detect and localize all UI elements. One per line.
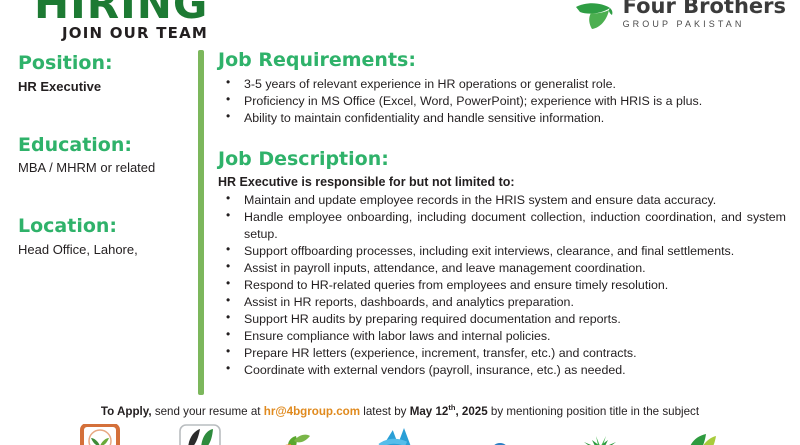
job-description-section: Job Description: HR Executive is respons… (218, 147, 786, 379)
list-item: Handle employee onboarding, including do… (218, 209, 786, 242)
job-description-list: Maintain and update employee records in … (218, 192, 786, 378)
company-logo: Four Brothers GROUP PAKISTAN (574, 0, 786, 32)
list-item: Assist in payroll inputs, attendance, an… (218, 260, 786, 277)
job-requirements-list: 3-5 years of relevant experience in HR o… (218, 76, 786, 127)
apply-prefix: To Apply, (101, 405, 152, 418)
brand-text-block: Four Brothers GROUP PAKISTAN (623, 0, 786, 29)
list-item: Maintain and update employee records in … (218, 192, 786, 209)
list-item: Ensure compliance with labor laws and in… (218, 328, 786, 345)
orange-framed-sprout-logo-icon (71, 424, 129, 445)
apply-text-before-email: send your resume at (152, 405, 264, 418)
blue-circle-logo-icon (471, 424, 529, 445)
hiring-title: HIRING (34, 0, 208, 25)
job-requirements-section: Job Requirements: 3-5 years of relevant … (218, 48, 786, 126)
lime-leaf-logo-icon (671, 424, 729, 445)
list-item: Respond to HR-related queries from emplo… (218, 277, 786, 294)
field-location: Location: Head Office, Lahore, (18, 215, 194, 259)
brand-subtitle: GROUP PAKISTAN (623, 20, 786, 29)
apply-text-before-date: latest by (360, 405, 410, 418)
apply-deadline-year: , 2025 (455, 405, 487, 418)
leaf-pair-boxed-logo-icon (171, 424, 229, 445)
partner-logo-strip (0, 424, 800, 445)
job-description-title: Job Description: (218, 147, 786, 172)
join-our-team-tagline: JOIN OUR TEAM (62, 24, 208, 42)
job-requirements-title: Job Requirements: (218, 48, 786, 73)
section-spacer (218, 127, 786, 147)
field-location-value: Head Office, Lahore, (18, 242, 194, 259)
two-leaves-icon (574, 0, 620, 32)
green-star-leaf-logo-icon (571, 424, 629, 445)
list-item: Coordinate with external vendors (payrol… (218, 362, 786, 379)
field-position-label: Position: (18, 52, 194, 76)
orange-sprout-logo-icon (271, 424, 329, 445)
apply-email-link[interactable]: hr@4bgroup.com (264, 405, 360, 418)
field-education-value: MBA / MHRM or related (18, 160, 194, 177)
field-location-label: Location: (18, 215, 194, 239)
field-position-value: HR Executive (18, 79, 194, 96)
job-detail-column: Job Requirements: 3-5 years of relevant … (218, 48, 786, 379)
brand-name: Four Brothers (623, 0, 786, 17)
poster-header: HIRING JOIN OUR TEAM Four Brothers GROUP… (0, 0, 800, 46)
list-item: Ability to maintain confidentiality and … (218, 110, 786, 127)
field-education: Education: MBA / MHRM or related (18, 134, 194, 178)
list-item: Assist in HR reports, dashboards, and an… (218, 294, 786, 311)
vertical-divider (198, 50, 204, 395)
field-education-label: Education: (18, 134, 194, 158)
blue-swoosh-logo-icon (371, 424, 429, 445)
list-item: Support offboarding processes, including… (218, 243, 786, 260)
apply-deadline-date: May 12 (410, 405, 449, 418)
list-item: Proficiency in MS Office (Excel, Word, P… (218, 93, 786, 110)
list-item: Support HR audits by preparing required … (218, 311, 786, 328)
job-meta-column: Position: HR Executive Education: MBA / … (18, 52, 194, 297)
job-description-subtitle: HR Executive is responsible for but not … (218, 174, 786, 191)
list-item: 3-5 years of relevant experience in HR o… (218, 76, 786, 93)
field-position: Position: HR Executive (18, 52, 194, 96)
list-item: Prepare HR letters (experience, incremen… (218, 345, 786, 362)
apply-text-after-date: by mentioning position title in the subj… (488, 405, 699, 418)
apply-instructions: To Apply, send your resume at hr@4bgroup… (0, 403, 800, 418)
